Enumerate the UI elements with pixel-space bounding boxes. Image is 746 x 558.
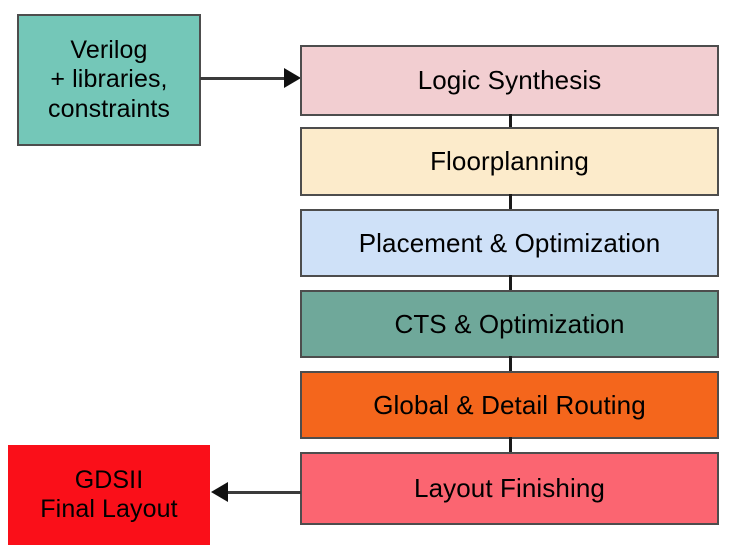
arrow-right-icon <box>284 68 301 88</box>
output-node-gdsii: GDSII Final Layout <box>8 445 210 545</box>
stage-placement-and-optimization: Placement & Optimization <box>300 209 719 277</box>
stage-layout-finishing: Layout Finishing <box>300 452 719 525</box>
stage-logic-synthesis: Logic Synthesis <box>300 45 719 116</box>
arrow-input-to-logic-synthesis-line <box>200 77 288 80</box>
stage-floorplanning: Floorplanning <box>300 127 719 196</box>
stage-global-and-detail-routing: Global & Detail Routing <box>300 371 719 439</box>
stage-cts-and-optimization: CTS & Optimization <box>300 290 719 358</box>
input-node-verilog: Verilog + libraries, constraints <box>17 14 201 146</box>
flow-diagram-canvas: Verilog + libraries, constraints Logic S… <box>0 0 746 558</box>
arrow-layout-finishing-to-gdsii-line <box>226 491 301 494</box>
arrow-left-icon <box>211 482 228 502</box>
